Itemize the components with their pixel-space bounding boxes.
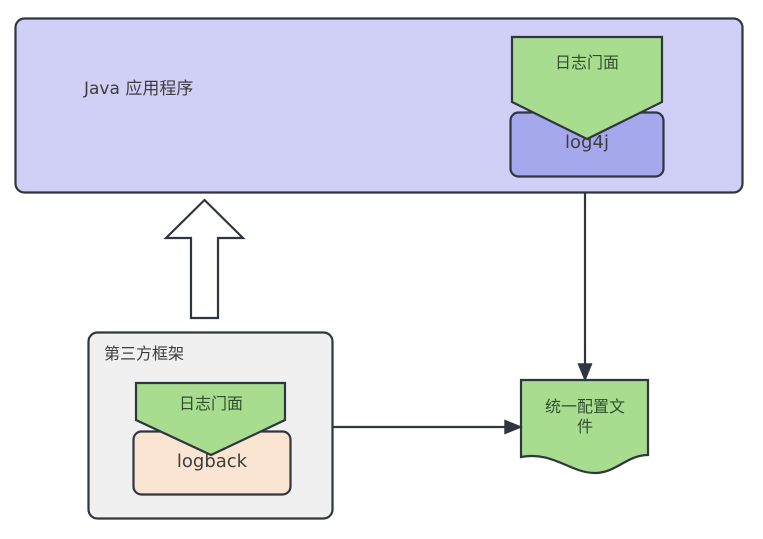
diagram-shapes — [0, 0, 763, 539]
edge-framework-to-app-arrow — [166, 200, 243, 318]
diagram-canvas: Java 应用程序 日志门面 log4j 第三方框架 日志门面 logback … — [0, 0, 763, 539]
edge-log4j-to-config-head — [579, 364, 592, 380]
node-unified-config-shape[interactable] — [521, 380, 648, 473]
edge-framework-to-config-head — [505, 421, 521, 434]
